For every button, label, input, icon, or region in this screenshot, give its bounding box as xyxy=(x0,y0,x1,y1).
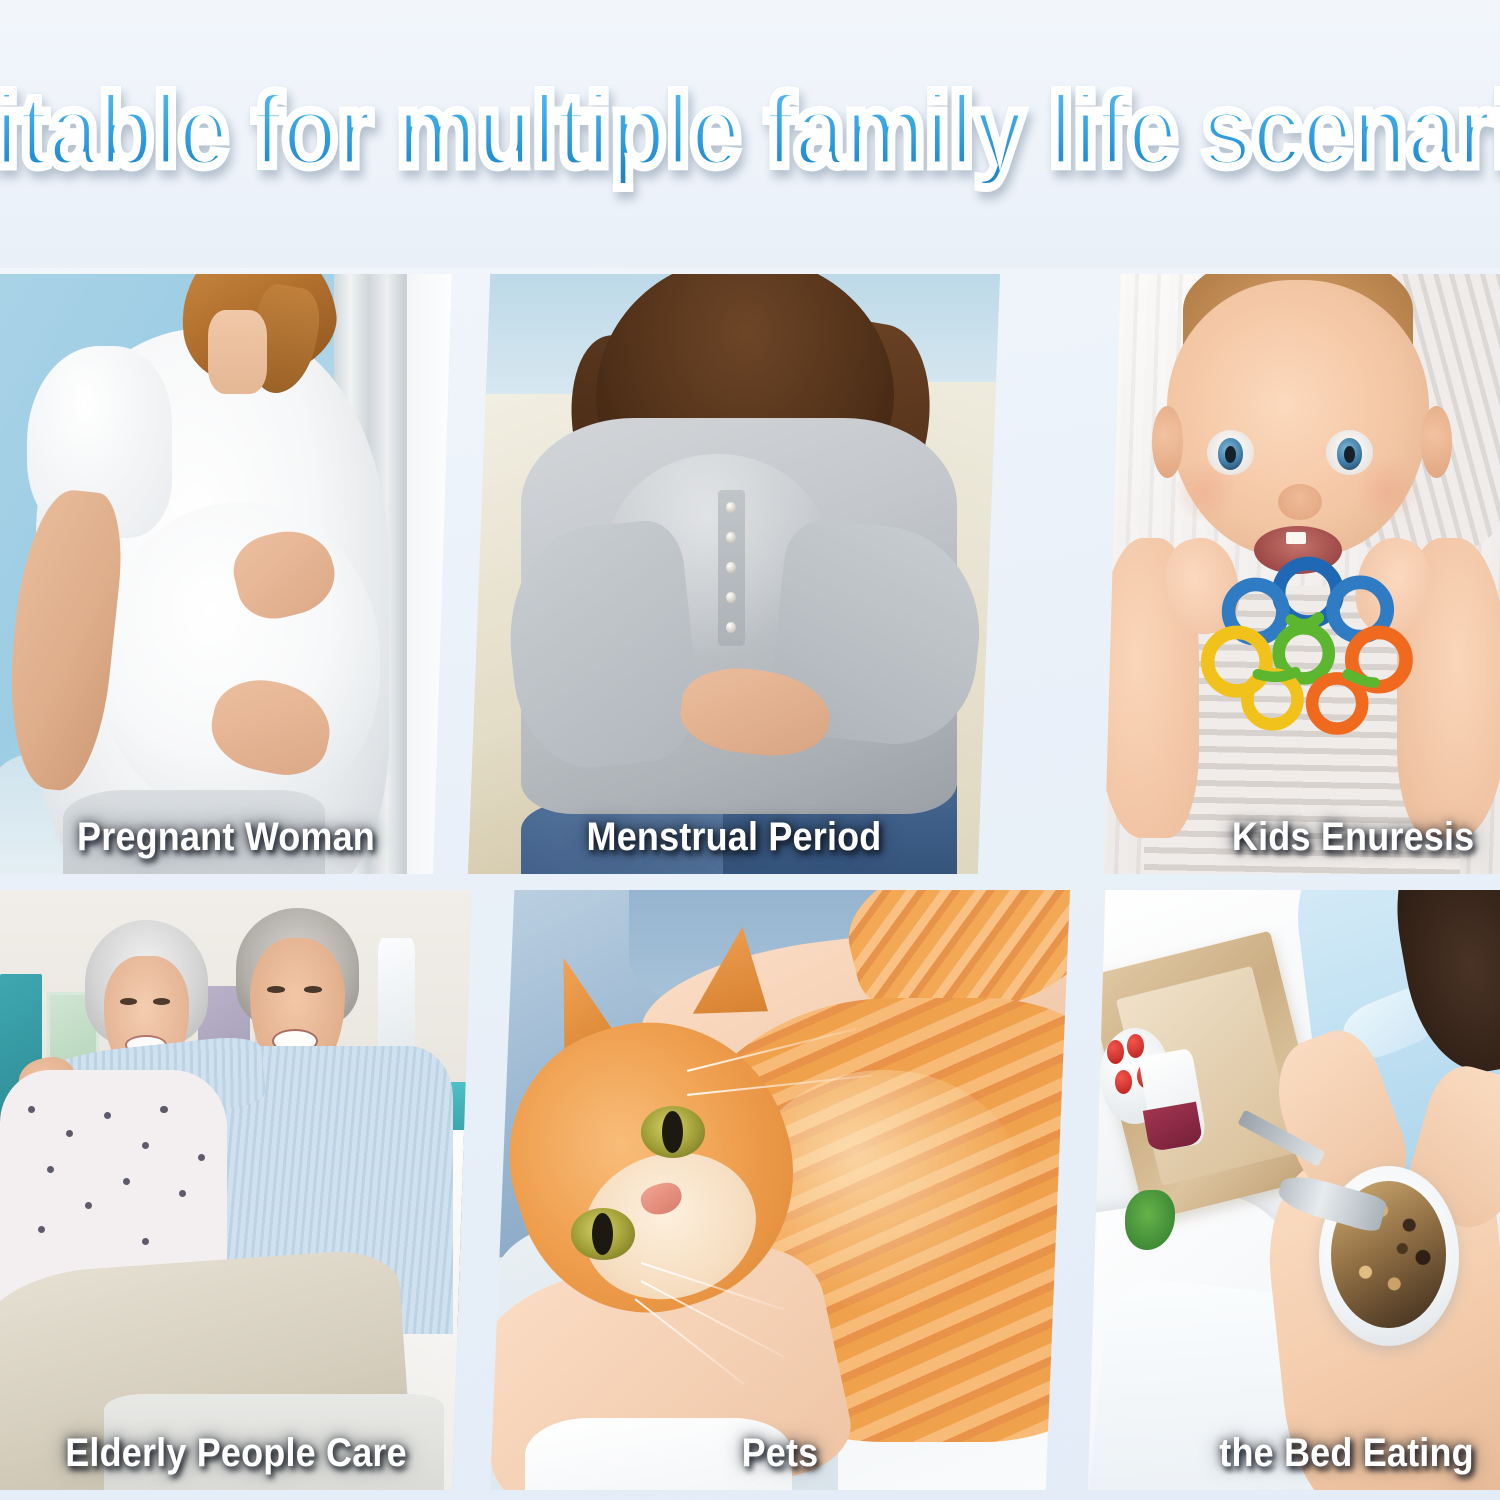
scenario-caption: Pets xyxy=(742,1431,819,1476)
scenario-caption: the Bed Eating xyxy=(1219,1431,1474,1476)
scenario-card-the-bed-eating[interactable]: the Bed Eating xyxy=(1088,890,1500,1490)
scenario-row-2: Elderly People Care xyxy=(0,890,1500,1490)
photo-the-bed-eating xyxy=(1088,890,1500,1490)
photo-kids-enuresis xyxy=(1104,274,1500,874)
scenario-card-pregnant-woman[interactable]: Pregnant Woman xyxy=(0,274,452,874)
photo-menstrual-period xyxy=(468,274,1000,874)
photo-pets xyxy=(490,890,1070,1490)
header-banner: Suitable for multiple family life scenar… xyxy=(0,0,1500,268)
scenario-caption: Elderly People Care xyxy=(65,1431,407,1476)
photo-pregnant-woman xyxy=(0,274,452,874)
page-title: Suitable for multiple family life scenar… xyxy=(0,79,1500,183)
photo-elderly-people-care xyxy=(0,890,472,1490)
scenario-card-pets[interactable]: Pets xyxy=(490,890,1070,1490)
scenario-caption: Pregnant Woman xyxy=(77,815,375,860)
scenario-card-elderly-people-care[interactable]: Elderly People Care xyxy=(0,890,472,1490)
scenario-caption: Kids Enuresis xyxy=(1232,815,1474,860)
scenario-grid: Pregnant Woman xyxy=(0,268,1500,1500)
oball-toy-icon xyxy=(1191,514,1421,778)
scenario-caption: Menstrual Period xyxy=(587,815,882,860)
scenario-card-menstrual-period[interactable]: Menstrual Period xyxy=(468,274,1000,874)
scenario-card-kids-enuresis[interactable]: Kids Enuresis xyxy=(1104,274,1500,874)
scenario-row-1: Pregnant Woman xyxy=(0,274,1500,874)
